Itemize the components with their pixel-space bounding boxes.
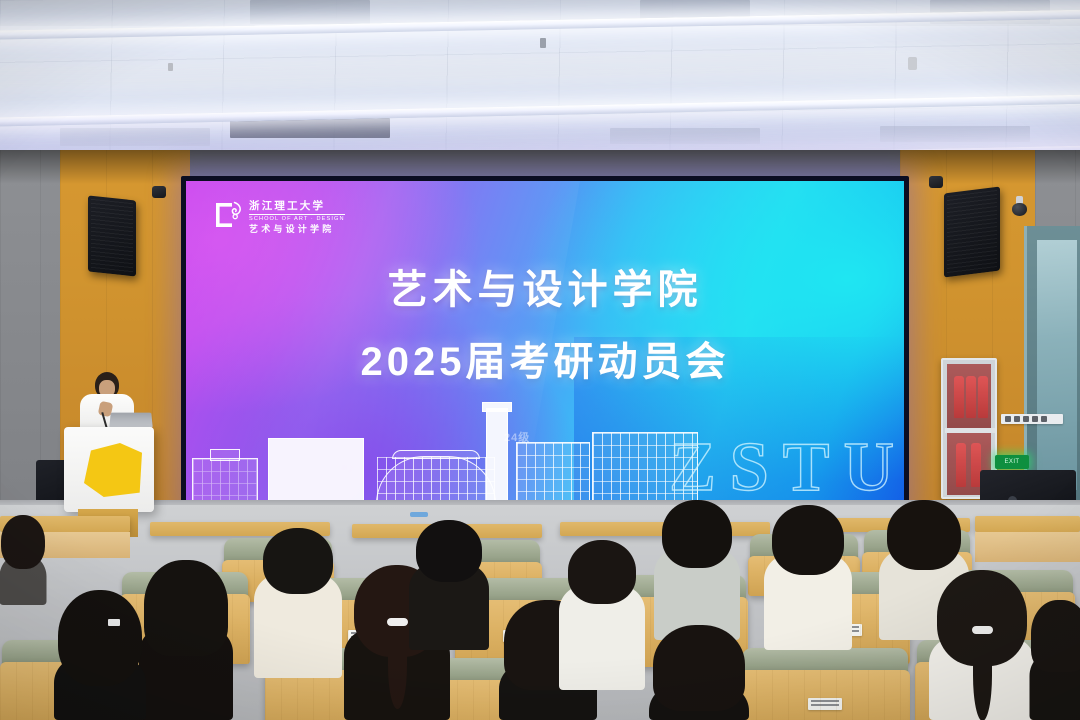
cabinet-upper-pane bbox=[947, 364, 991, 428]
skyline-building-solid bbox=[268, 438, 364, 504]
ceiling-sprinkler bbox=[168, 63, 173, 71]
zstu-letter-t: T bbox=[783, 437, 830, 499]
lecture-hall-photo: 浙江理工大学 SCHOOL OF ART · DESIGN 艺术与设计学院 艺术… bbox=[0, 0, 1080, 720]
student-12 bbox=[55, 590, 145, 720]
outlet-socket bbox=[1023, 416, 1029, 422]
audience-ponytail bbox=[973, 630, 992, 720]
skyline-building bbox=[192, 458, 258, 504]
student-1 bbox=[140, 560, 232, 720]
seat[interactable] bbox=[740, 648, 910, 720]
audience-hair-tie bbox=[387, 618, 408, 626]
small-camera-icon bbox=[929, 176, 943, 188]
audience-head bbox=[662, 500, 732, 568]
audience-hair-tie bbox=[972, 626, 993, 634]
zstu-letter-s: S bbox=[730, 437, 769, 499]
audience-head bbox=[1, 515, 45, 569]
logo-divider bbox=[249, 214, 345, 215]
audience-head bbox=[416, 520, 482, 582]
school-logo: 浙江理工大学 SCHOOL OF ART · DESIGN 艺术与设计学院 bbox=[214, 200, 345, 235]
student-14 bbox=[1030, 600, 1080, 720]
audience-hair-clip bbox=[108, 619, 120, 626]
podium-laptop[interactable] bbox=[109, 413, 153, 428]
audience-head bbox=[58, 590, 142, 686]
seat-back bbox=[740, 670, 910, 720]
seat-number-label bbox=[808, 698, 842, 710]
audience-head bbox=[144, 560, 228, 656]
speaker-podium[interactable] bbox=[64, 427, 154, 512]
audience-head bbox=[263, 528, 333, 594]
skyline-faint-text: 24级 bbox=[504, 429, 530, 445]
student-11 bbox=[650, 625, 748, 720]
skyline-tower-cap bbox=[482, 402, 512, 412]
skyline-building bbox=[516, 442, 590, 504]
wall-speaker-right bbox=[944, 187, 1000, 278]
logo-school-name: 艺术与设计学院 bbox=[249, 224, 345, 235]
ceiling-camera-left-icon bbox=[152, 186, 166, 198]
podium-graphic bbox=[84, 443, 142, 497]
audience-ponytail bbox=[388, 622, 407, 709]
door-glass-panel bbox=[1037, 240, 1077, 490]
ceiling-sensor bbox=[540, 38, 546, 48]
emergency-exit-sign: EXIT bbox=[995, 455, 1029, 469]
student-10 bbox=[930, 570, 1034, 720]
student-4 bbox=[410, 520, 488, 650]
wall-outlet-strip[interactable] bbox=[1001, 414, 1063, 424]
fire-extinguisher-icon bbox=[954, 376, 964, 418]
logo-university-name: 浙江理工大学 bbox=[249, 201, 345, 212]
skyline-round-building bbox=[376, 456, 496, 504]
wall-speaker-left bbox=[88, 195, 136, 276]
zstu-letter-u: U bbox=[843, 437, 894, 499]
student-7 bbox=[655, 500, 739, 640]
logo-mark-icon bbox=[214, 200, 244, 230]
student-6 bbox=[560, 540, 644, 690]
skyline-round-roof bbox=[392, 450, 480, 459]
fire-extinguisher-icon bbox=[978, 376, 988, 418]
skyline-tower bbox=[486, 408, 508, 504]
slide-title-line-1: 艺术与设计学院 bbox=[186, 257, 904, 315]
slide-title-line-2: 2025届考研动员会 bbox=[186, 329, 904, 387]
zstu-watermark: Z S T U bbox=[669, 437, 894, 499]
fire-extinguisher-icon bbox=[966, 376, 976, 418]
zstu-letter-z: Z bbox=[669, 437, 716, 499]
outlet-socket bbox=[1041, 416, 1047, 422]
student-2 bbox=[255, 528, 341, 678]
audience-head bbox=[568, 540, 636, 604]
ceiling-vent bbox=[250, 0, 370, 24]
campus-skyline-graphic: 24级 Z S T U bbox=[186, 395, 904, 507]
student-8 bbox=[765, 505, 851, 650]
exit-sign-label: EXIT bbox=[1005, 459, 1020, 465]
led-presentation-screen[interactable]: 浙江理工大学 SCHOOL OF ART · DESIGN 艺术与设计学院 艺术… bbox=[186, 181, 904, 507]
outlet-socket bbox=[1014, 416, 1020, 422]
student-13 bbox=[0, 515, 46, 605]
logo-text-block: 浙江理工大学 SCHOOL OF ART · DESIGN 艺术与设计学院 bbox=[249, 200, 345, 235]
audience-head bbox=[1031, 600, 1080, 672]
ceiling bbox=[0, 0, 1080, 175]
audience-head bbox=[653, 625, 745, 711]
outlet-socket bbox=[1005, 416, 1011, 422]
desk-front-panel bbox=[975, 532, 1080, 562]
ceiling-sensor bbox=[908, 57, 917, 70]
ptz-dome-camera-icon bbox=[1012, 196, 1027, 216]
desk-item-pen bbox=[410, 512, 428, 517]
desk-row-back bbox=[975, 516, 1080, 532]
logo-english-name: SCHOOL OF ART · DESIGN bbox=[249, 216, 345, 223]
skyline-building bbox=[210, 449, 240, 461]
outlet-socket bbox=[1032, 416, 1038, 422]
fire-extinguisher-icon bbox=[956, 443, 966, 487]
audience-head bbox=[772, 505, 844, 575]
audience-head bbox=[887, 500, 961, 570]
